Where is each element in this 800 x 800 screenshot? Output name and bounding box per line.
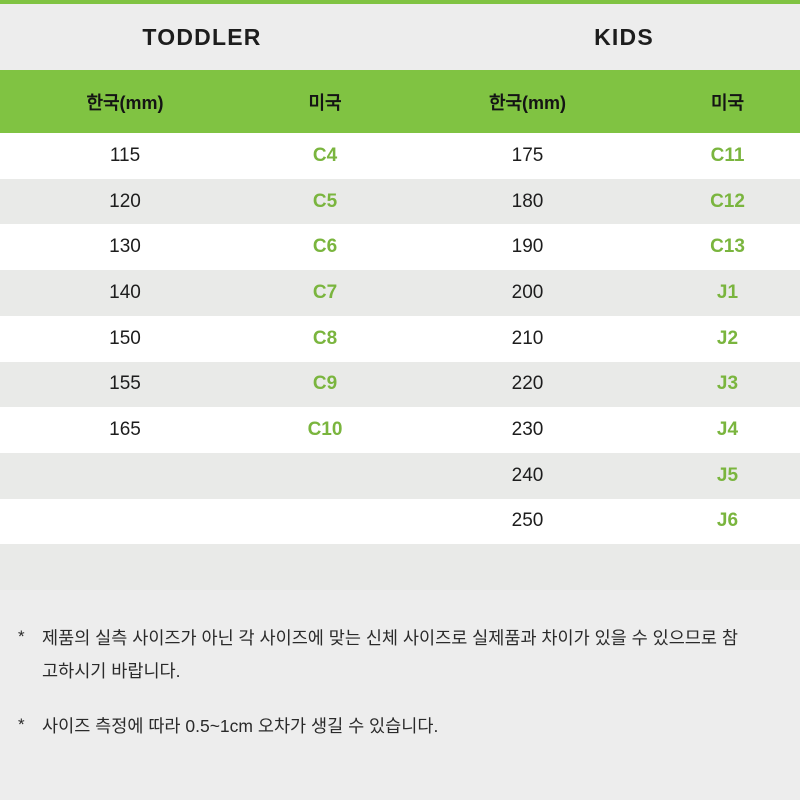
table-row: 155 C9 220 J3: [0, 362, 800, 408]
table-row: 250 J6: [0, 499, 800, 545]
footnote-marker-icon: *: [18, 710, 42, 740]
cell-kids-us: C11: [655, 133, 800, 179]
table-row: 115 C4 175 C11: [0, 133, 800, 179]
group-header-toddler: TODDLER: [0, 4, 400, 70]
table-row: 150 C8 210 J2: [0, 316, 800, 362]
group-title-row: TODDLER KIDS: [0, 4, 800, 70]
size-chart: TODDLER KIDS 한국(mm) 미국 한국(mm) 미국 115 C4 …: [0, 0, 800, 800]
table-body: 115 C4 175 C11 120 C5 180 C12 130 C6 190…: [0, 133, 800, 590]
cell-toddler-us: [250, 453, 400, 499]
cell-kids-kr: 230: [400, 407, 655, 453]
cell-toddler-kr: [0, 453, 250, 499]
cell-kids-us: J5: [655, 453, 800, 499]
footnote-text: 사이즈 측정에 따라 0.5~1cm 오차가 생길 수 있습니다.: [42, 710, 438, 743]
cell-kids-us: J6: [655, 499, 800, 545]
cell-kids-us: J4: [655, 407, 800, 453]
cell-kids-kr: 180: [400, 179, 655, 225]
cell-kids-us: C12: [655, 179, 800, 225]
table-row: 165 C10 230 J4: [0, 407, 800, 453]
footnote-item: * 제품의 실측 사이즈가 아닌 각 사이즈에 맞는 신체 사이즈로 실제품과 …: [18, 622, 774, 688]
column-header-kids-us: 미국: [655, 70, 800, 133]
cell-toddler-kr: 150: [0, 316, 250, 362]
cell-toddler-us: C10: [250, 407, 400, 453]
cell-kids-us: [655, 544, 800, 590]
cell-kids-kr: 220: [400, 362, 655, 408]
cell-toddler-us: [250, 544, 400, 590]
table-row: 240 J5: [0, 453, 800, 499]
cell-toddler-kr: 165: [0, 407, 250, 453]
footnote-item: * 사이즈 측정에 따라 0.5~1cm 오차가 생길 수 있습니다.: [18, 710, 774, 743]
cell-kids-kr: 210: [400, 316, 655, 362]
cell-toddler-us: C9: [250, 362, 400, 408]
cell-toddler-kr: 155: [0, 362, 250, 408]
cell-toddler-kr: 130: [0, 224, 250, 270]
column-header-row: 한국(mm) 미국 한국(mm) 미국: [0, 70, 800, 133]
table-row: [0, 544, 800, 590]
cell-kids-kr: 250: [400, 499, 655, 545]
cell-toddler-us: C8: [250, 316, 400, 362]
table-row: 130 C6 190 C13: [0, 224, 800, 270]
footnote-marker-icon: *: [18, 622, 42, 652]
cell-kids-us: J1: [655, 270, 800, 316]
cell-kids-kr: 175: [400, 133, 655, 179]
footnote-text: 제품의 실측 사이즈가 아닌 각 사이즈에 맞는 신체 사이즈로 실제품과 차이…: [42, 622, 754, 688]
cell-toddler-us: C6: [250, 224, 400, 270]
cell-kids-kr: 200: [400, 270, 655, 316]
column-header-toddler-kr: 한국(mm): [0, 70, 250, 133]
cell-kids-us: J2: [655, 316, 800, 362]
cell-toddler-us: C4: [250, 133, 400, 179]
cell-toddler-us: C5: [250, 179, 400, 225]
cell-kids-us: J3: [655, 362, 800, 408]
cell-kids-us: C13: [655, 224, 800, 270]
cell-toddler-kr: 115: [0, 133, 250, 179]
cell-toddler-us: [250, 499, 400, 545]
footnote-section: * 제품의 실측 사이즈가 아닌 각 사이즈에 맞는 신체 사이즈로 실제품과 …: [0, 590, 800, 800]
cell-toddler-kr: 140: [0, 270, 250, 316]
column-header-toddler-us: 미국: [250, 70, 400, 133]
cell-toddler-kr: [0, 544, 250, 590]
cell-kids-kr: 240: [400, 453, 655, 499]
group-title-kids: KIDS: [594, 24, 654, 51]
cell-toddler-kr: 120: [0, 179, 250, 225]
cell-kids-kr: [400, 544, 655, 590]
cell-toddler-kr: [0, 499, 250, 545]
cell-toddler-us: C7: [250, 270, 400, 316]
column-header-kids-kr: 한국(mm): [400, 70, 655, 133]
cell-kids-kr: 190: [400, 224, 655, 270]
group-header-kids: KIDS: [400, 4, 800, 70]
group-title-toddler: TODDLER: [142, 24, 261, 51]
table-row: 120 C5 180 C12: [0, 179, 800, 225]
table-row: 140 C7 200 J1: [0, 270, 800, 316]
